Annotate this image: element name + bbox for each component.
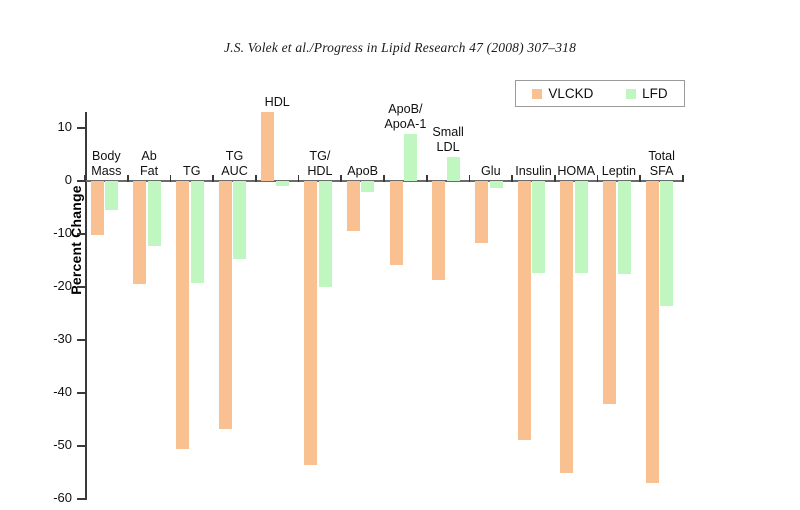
bar-lfd-hdl	[276, 181, 289, 186]
bar-lfd-tg-hdl	[319, 181, 332, 287]
bar-vlckd-insulin	[518, 181, 531, 440]
bar-vlckd-tg-auc	[219, 181, 232, 429]
x-axis-tick	[426, 175, 428, 182]
figure-container: J.S. Volek et al./Progress in Lipid Rese…	[0, 0, 800, 510]
y-axis-tick-label: -50	[24, 437, 72, 452]
bar-vlckd-total-sfa	[646, 181, 659, 483]
bar-lfd-tg-auc	[233, 181, 246, 259]
bar-vlckd-tg-hdl	[304, 181, 317, 465]
bar-lfd-body-mass	[105, 181, 118, 210]
y-axis-tick	[77, 233, 85, 235]
y-axis-tick-label: -20	[24, 278, 72, 293]
chart-legend: VLCKD LFD	[515, 80, 685, 107]
category-label: ApoB	[328, 164, 398, 179]
legend-swatch-icon-vlckd	[532, 89, 542, 99]
bar-vlckd-homa	[560, 181, 573, 473]
legend-swatch-icon-lfd	[626, 89, 636, 99]
bar-lfd-leptin	[618, 181, 631, 274]
category-label: TG AUC	[200, 149, 270, 178]
y-axis-tick-label: -40	[24, 384, 72, 399]
bar-vlckd-apob	[347, 181, 360, 231]
y-axis-tick	[77, 286, 85, 288]
y-axis-tick-label: 0	[24, 172, 72, 187]
bar-vlckd-ab-fat	[133, 181, 146, 284]
y-axis-tick	[77, 339, 85, 341]
bar-lfd-homa	[575, 181, 588, 273]
legend-label-vlckd: VLCKD	[548, 86, 593, 101]
category-label: Total SFA	[627, 149, 697, 178]
bar-lfd-tg	[191, 181, 204, 283]
bar-vlckd-leptin	[603, 181, 616, 404]
legend-entry-lfd: LFD	[626, 86, 668, 101]
bar-lfd-apob	[361, 181, 374, 192]
running-head: J.S. Volek et al./Progress in Lipid Rese…	[0, 40, 800, 56]
bar-vlckd-body-mass	[91, 181, 104, 235]
bar-lfd-ab-fat	[148, 181, 161, 246]
legend-label-lfd: LFD	[642, 86, 668, 101]
bar-vlckd-small-ldl	[432, 181, 445, 280]
y-axis-tick	[77, 445, 85, 447]
y-axis-tick-label: -30	[24, 331, 72, 346]
bar-lfd-glu	[490, 181, 503, 188]
y-axis-tick-label: -60	[24, 490, 72, 505]
y-axis-tick-label: -10	[24, 225, 72, 240]
y-axis-tick-label: 10	[24, 119, 72, 134]
y-axis-tick	[77, 127, 85, 129]
y-axis-tick	[77, 498, 85, 500]
category-label: HDL	[242, 95, 312, 110]
bar-lfd-total-sfa	[660, 181, 673, 306]
bar-lfd-insulin	[532, 181, 545, 273]
legend-entry-vlckd: VLCKD	[532, 86, 593, 101]
y-axis-tick	[77, 392, 85, 394]
bar-vlckd-glu	[475, 181, 488, 243]
bar-vlckd-apob-apoa-1	[390, 181, 403, 265]
bar-vlckd-tg	[176, 181, 189, 449]
category-label: Small LDL	[413, 125, 483, 154]
